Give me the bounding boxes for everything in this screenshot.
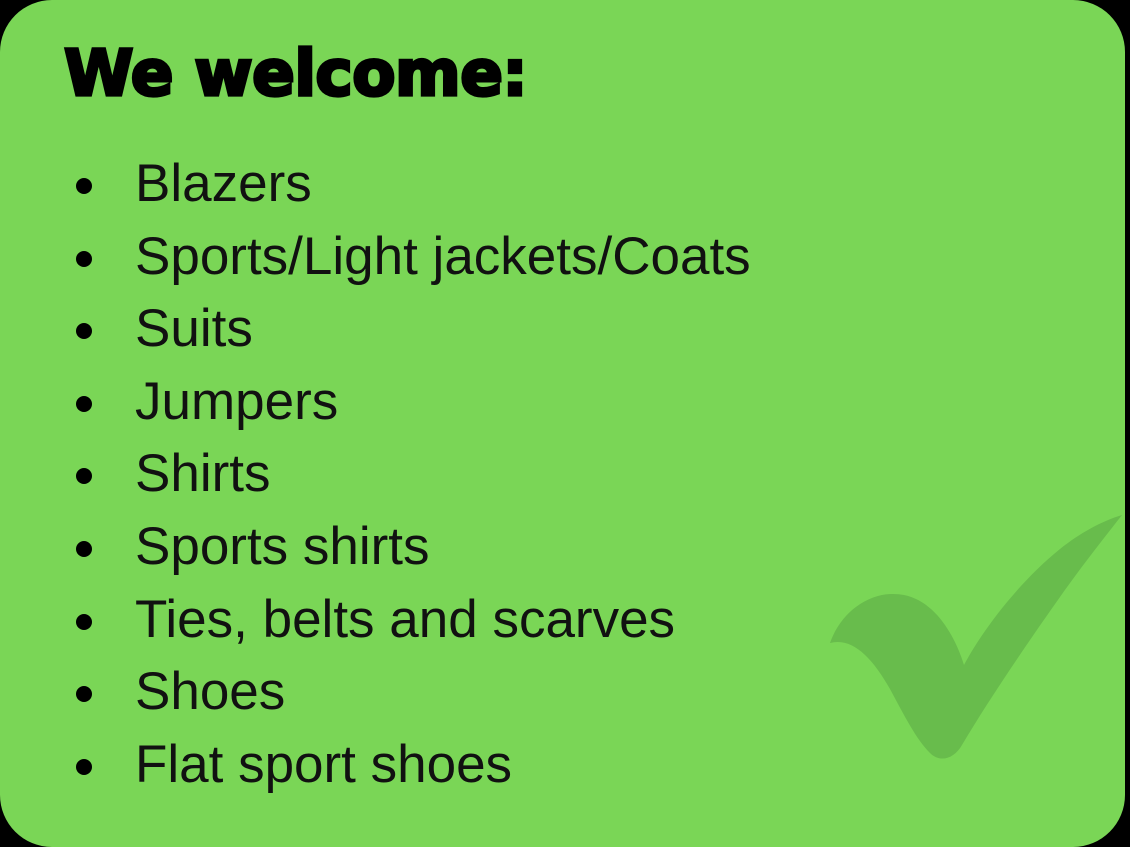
list-item: Ties, belts and scarves — [64, 584, 1024, 657]
list-item: Jumpers — [64, 366, 1024, 439]
list-item-label: Suits — [135, 293, 253, 366]
bullet-icon — [76, 686, 92, 702]
list-item: Shirts — [64, 438, 1024, 511]
list-item: Shoes — [64, 656, 1024, 729]
list-item-label: Blazers — [135, 148, 312, 221]
bullet-icon — [76, 541, 92, 557]
list-item-label: Flat sport shoes — [135, 729, 512, 802]
bullet-icon — [76, 178, 92, 194]
bullet-icon — [76, 759, 92, 775]
list-item-label: Sports shirts — [135, 511, 430, 584]
list-item-label: Ties, belts and scarves — [135, 584, 675, 657]
list-item: Sports shirts — [64, 511, 1024, 584]
list-item: Blazers — [64, 148, 1024, 221]
bullet-icon — [76, 396, 92, 412]
page-title: We welcome: — [64, 38, 527, 110]
welcome-card: We welcome: Blazers Sports/Light jackets… — [0, 0, 1125, 847]
list-item: Sports/Light jackets/Coats — [64, 221, 1024, 294]
bullet-icon — [76, 251, 92, 267]
bullet-icon — [76, 468, 92, 484]
list-item: Suits — [64, 293, 1024, 366]
bullet-icon — [76, 614, 92, 630]
bullet-icon — [76, 323, 92, 339]
list-item-label: Shirts — [135, 438, 270, 511]
card-content: We welcome: Blazers Sports/Light jackets… — [0, 0, 1125, 847]
list-item: Flat sport shoes — [64, 729, 1024, 802]
list-item-label: Shoes — [135, 656, 285, 729]
welcome-items-list: Blazers Sports/Light jackets/Coats Suits… — [64, 148, 1024, 801]
list-item-label: Jumpers — [135, 366, 338, 439]
list-item-label: Sports/Light jackets/Coats — [135, 221, 751, 294]
